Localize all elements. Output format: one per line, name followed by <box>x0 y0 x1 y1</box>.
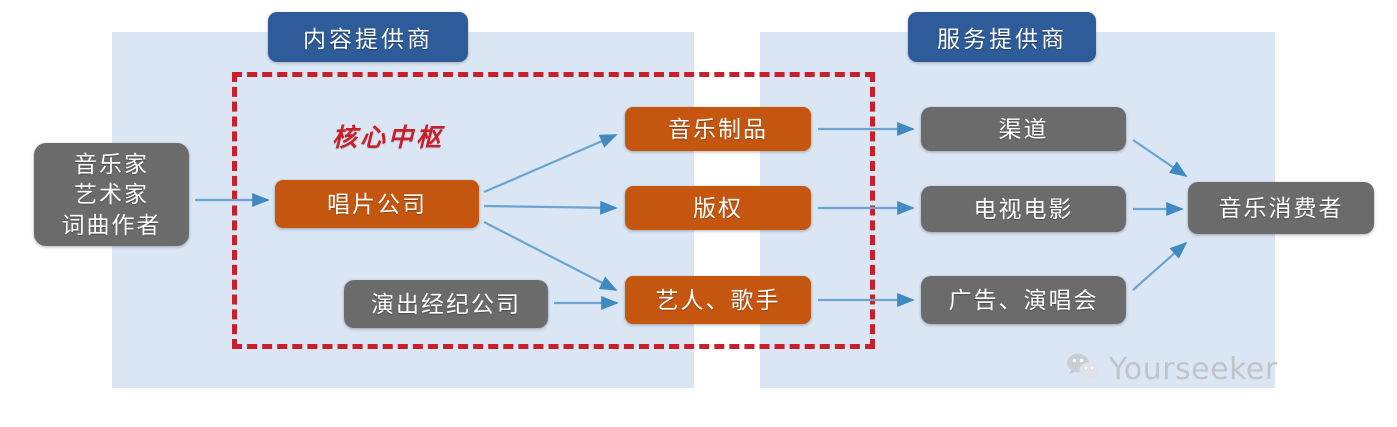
node-music-consumers: 音乐消费者 <box>1188 182 1374 234</box>
node-copyright-text: 版权 <box>693 193 743 223</box>
node-record-label: 唱片公司 <box>275 180 479 228</box>
wechat-icon <box>1066 352 1100 387</box>
node-channel-text: 渠道 <box>999 114 1049 144</box>
node-ads-concerts-text: 广告、演唱会 <box>949 285 1099 315</box>
node-performance-agency: 演出经纪公司 <box>344 280 548 328</box>
node-ads-concerts: 广告、演唱会 <box>921 276 1126 324</box>
section-header-content-provider: 内容提供商 <box>268 12 468 62</box>
section-header-service-provider: 服务提供商 <box>908 12 1096 62</box>
watermark-text: Yourseeker <box>1109 352 1278 387</box>
node-tv-film-text: 电视电影 <box>974 194 1074 224</box>
node-channel: 渠道 <box>921 107 1126 151</box>
core-hub-annotation: 核心中枢 <box>332 118 444 154</box>
node-performance-agency-text: 演出经纪公司 <box>371 289 521 319</box>
node-artists-singers-text: 艺人、歌手 <box>656 285 781 315</box>
watermark: Yourseeker <box>1066 352 1278 387</box>
node-music-products-text: 音乐制品 <box>668 114 768 144</box>
diagram-canvas: 内容提供商 服务提供商 核心中枢 音乐家 艺术家 词曲作者 唱片公司 演出经纪公… <box>0 0 1397 427</box>
node-creators: 音乐家 艺术家 词曲作者 <box>34 143 189 246</box>
node-record-label-text: 唱片公司 <box>327 189 427 219</box>
section-header-label: 服务提供商 <box>937 20 1067 54</box>
node-tv-film: 电视电影 <box>921 186 1126 232</box>
node-copyright: 版权 <box>625 186 811 230</box>
section-header-label: 内容提供商 <box>303 20 433 54</box>
node-artists-singers: 艺人、歌手 <box>625 276 811 324</box>
node-music-products: 音乐制品 <box>625 107 811 151</box>
node-creators-line-2: 艺术家 <box>74 179 149 209</box>
node-music-consumers-text: 音乐消费者 <box>1219 193 1344 223</box>
node-creators-line-1: 音乐家 <box>74 149 149 179</box>
node-creators-line-3: 词曲作者 <box>62 210 162 240</box>
